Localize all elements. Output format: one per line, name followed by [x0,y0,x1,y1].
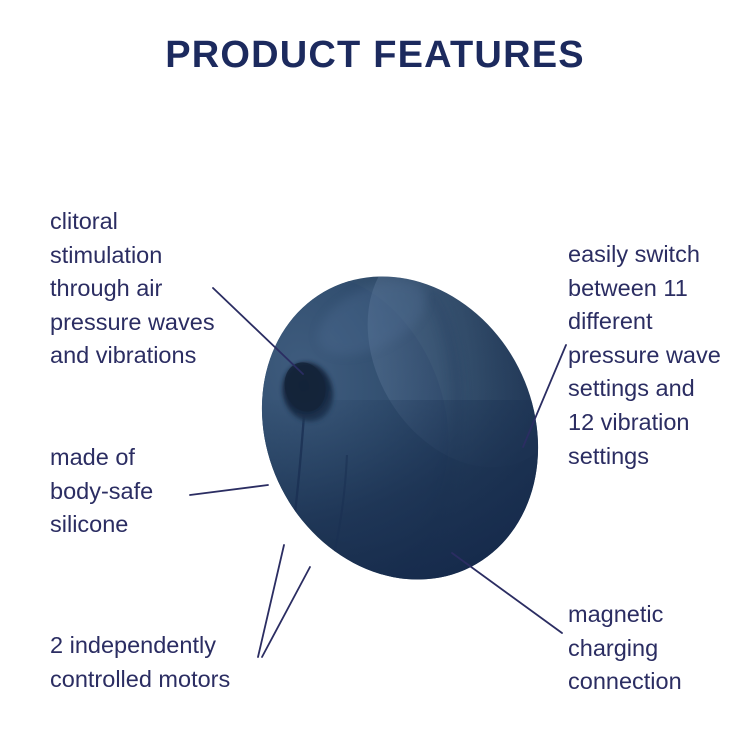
product-rim-shadow [388,292,457,586]
product-seam-line-right [330,455,347,572]
callout-magnetic-charging: magnetic charging connection [568,598,748,699]
callout-independent-motors: 2 independently controlled motors [50,629,320,696]
product-top-highlight [307,266,438,371]
callout-clitoral-stimulation: clitoral stimulation through air pressur… [50,205,265,373]
product-highlight-sheen [327,200,608,503]
product-nozzle-opening [276,356,341,427]
product-body-shell [211,229,590,628]
page-title: PRODUCT FEATURES [0,34,750,77]
leader-line-magnetic [452,553,562,633]
callout-body-safe-silicone: made of body-safe silicone [50,441,250,542]
product-seam-line-left [288,415,304,566]
leader-line-switch [523,345,566,447]
product-features-infographic: PRODUCT FEATURES [0,0,750,750]
product-nozzle-inner [279,357,331,416]
product-bottom-shadow [250,400,570,610]
callout-pressure-vibration-settings: easily switch between 11 different press… [568,238,750,473]
